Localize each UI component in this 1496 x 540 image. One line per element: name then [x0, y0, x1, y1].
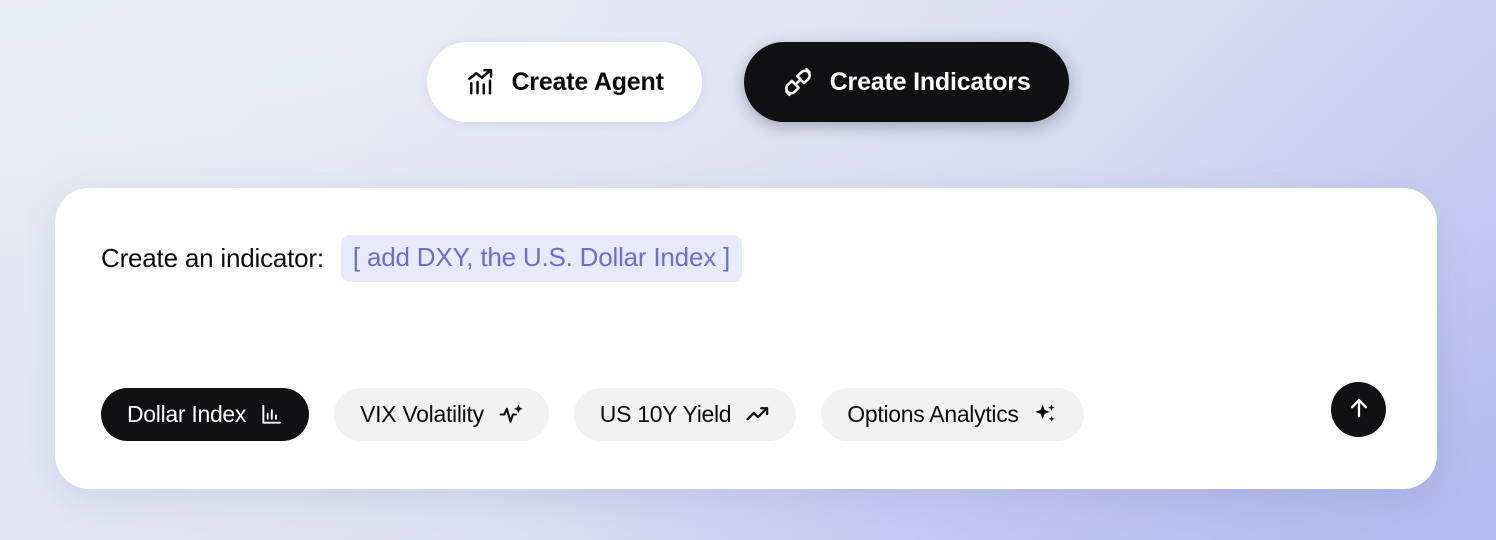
create-indicators-label: Create Indicators — [830, 68, 1031, 97]
chip-vix-volatility[interactable]: VIX Volatility — [334, 388, 549, 441]
create-indicators-button[interactable]: Create Indicators — [744, 42, 1069, 122]
trending-up-icon — [745, 402, 770, 427]
indicator-composer-card: Create an indicator: [ add DXY, the U.S.… — [55, 188, 1437, 489]
send-button[interactable] — [1331, 382, 1386, 437]
chip-dollar-index-label: Dollar Index — [127, 401, 246, 428]
bar-chart-icon — [260, 403, 283, 426]
prompt-input[interactable]: [ add DXY, the U.S. Dollar Index ] — [341, 235, 742, 282]
prompt-row: Create an indicator: [ add DXY, the U.S.… — [101, 235, 742, 282]
activity-sparkle-icon — [498, 402, 523, 427]
sparkles-icon — [1033, 402, 1058, 427]
chip-options-analytics[interactable]: Options Analytics — [821, 388, 1083, 441]
chip-dollar-index[interactable]: Dollar Index — [101, 388, 309, 441]
arrow-up-icon — [1346, 395, 1372, 424]
indicator-chips-row: Dollar Index VIX Volatility US 10Y Y — [101, 388, 1084, 441]
chip-us-10y-yield[interactable]: US 10Y Yield — [574, 388, 797, 441]
mode-toggle-bar: Create Agent Create Indicators — [0, 42, 1496, 122]
create-agent-label: Create Agent — [511, 68, 663, 97]
chart-trending-up-icon — [465, 67, 495, 97]
create-agent-button[interactable]: Create Agent — [427, 42, 701, 122]
chip-us-10y-yield-label: US 10Y Yield — [600, 401, 732, 428]
chip-vix-volatility-label: VIX Volatility — [360, 401, 484, 428]
plug-connection-icon — [782, 66, 814, 98]
prompt-label: Create an indicator: — [101, 243, 324, 274]
chip-options-analytics-label: Options Analytics — [847, 401, 1018, 428]
